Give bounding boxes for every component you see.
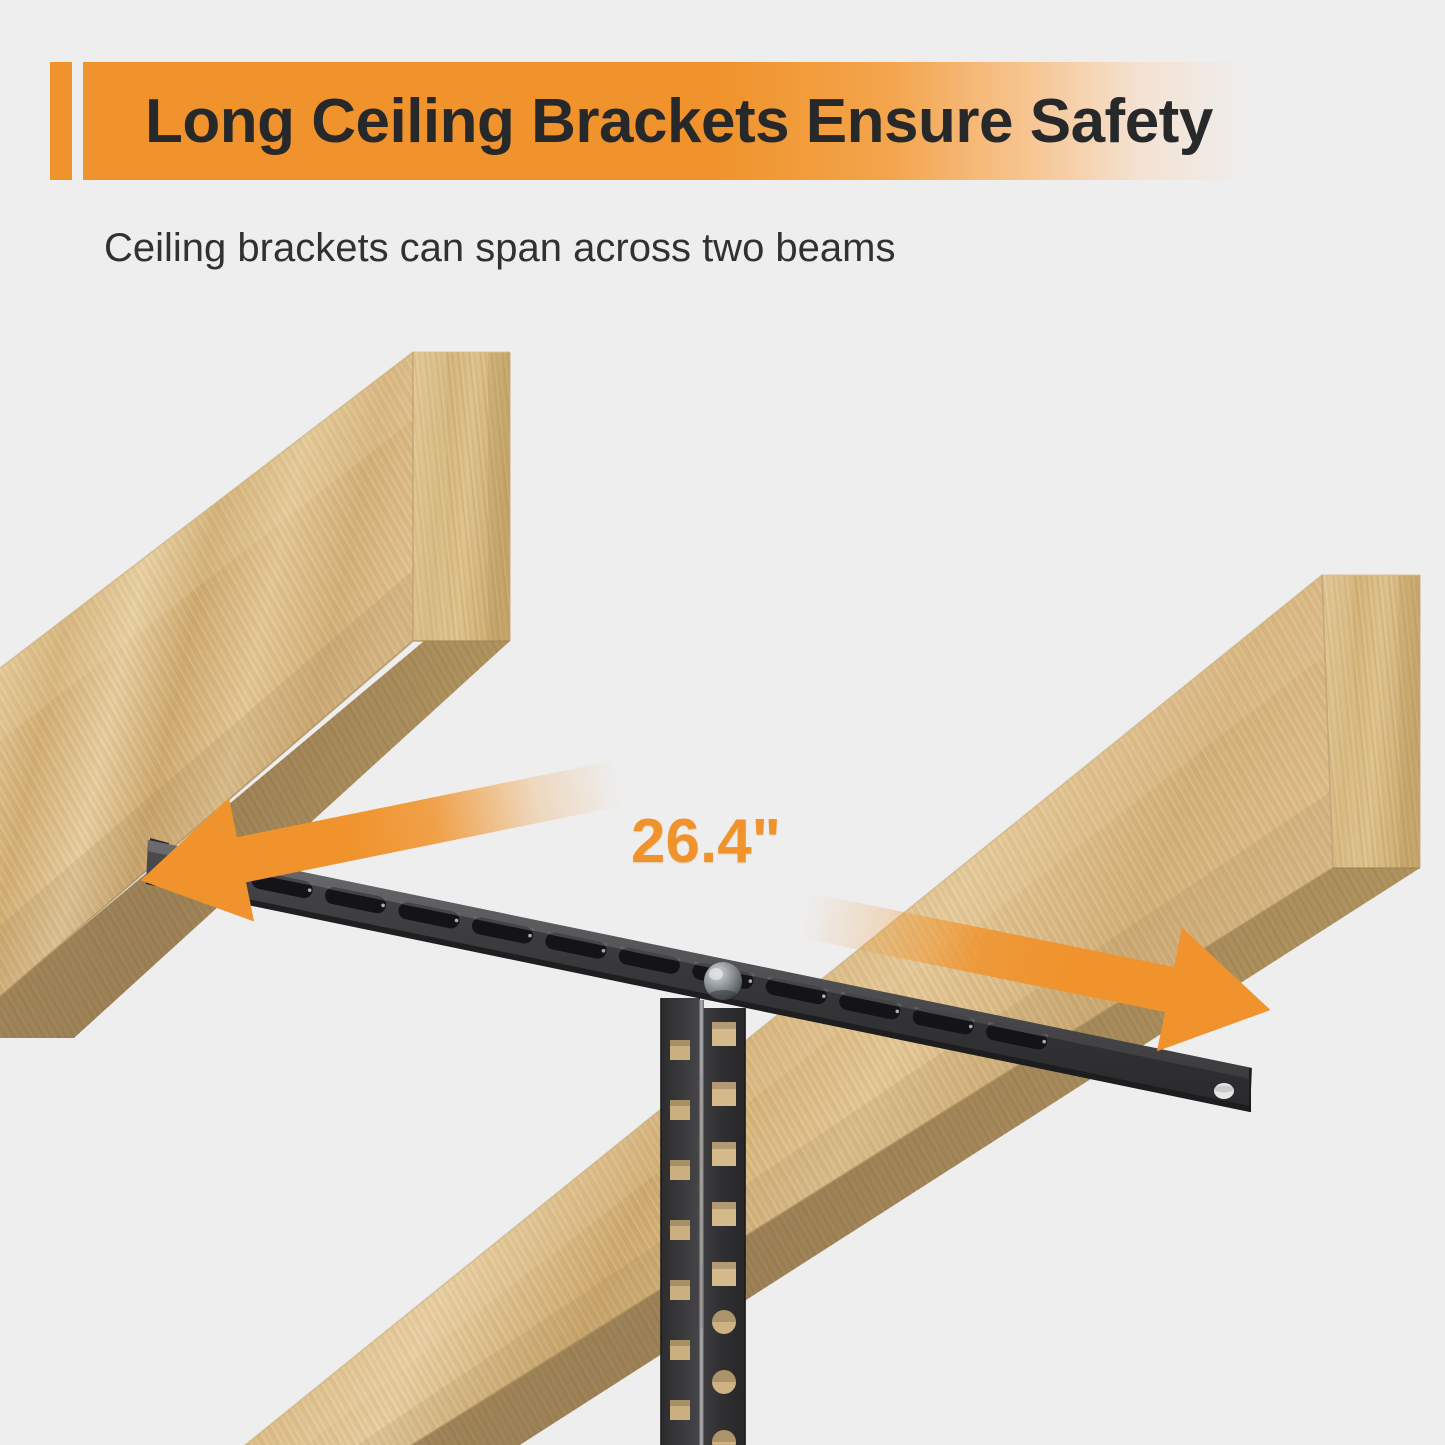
product-feature-image: Long Ceiling Brackets Ensure Safety Ceil…	[0, 0, 1445, 1445]
center-bolt	[704, 962, 742, 1000]
accent-bar	[50, 62, 72, 180]
page-title: Long Ceiling Brackets Ensure Safety	[145, 62, 1375, 180]
post-corner-highlight	[699, 1000, 704, 1445]
product-illustration	[0, 0, 1445, 1445]
dimension-label: 26.4"	[631, 806, 781, 877]
page-subtitle: Ceiling brackets can span across two bea…	[104, 226, 895, 271]
bracket-vertical-post	[661, 998, 745, 1445]
